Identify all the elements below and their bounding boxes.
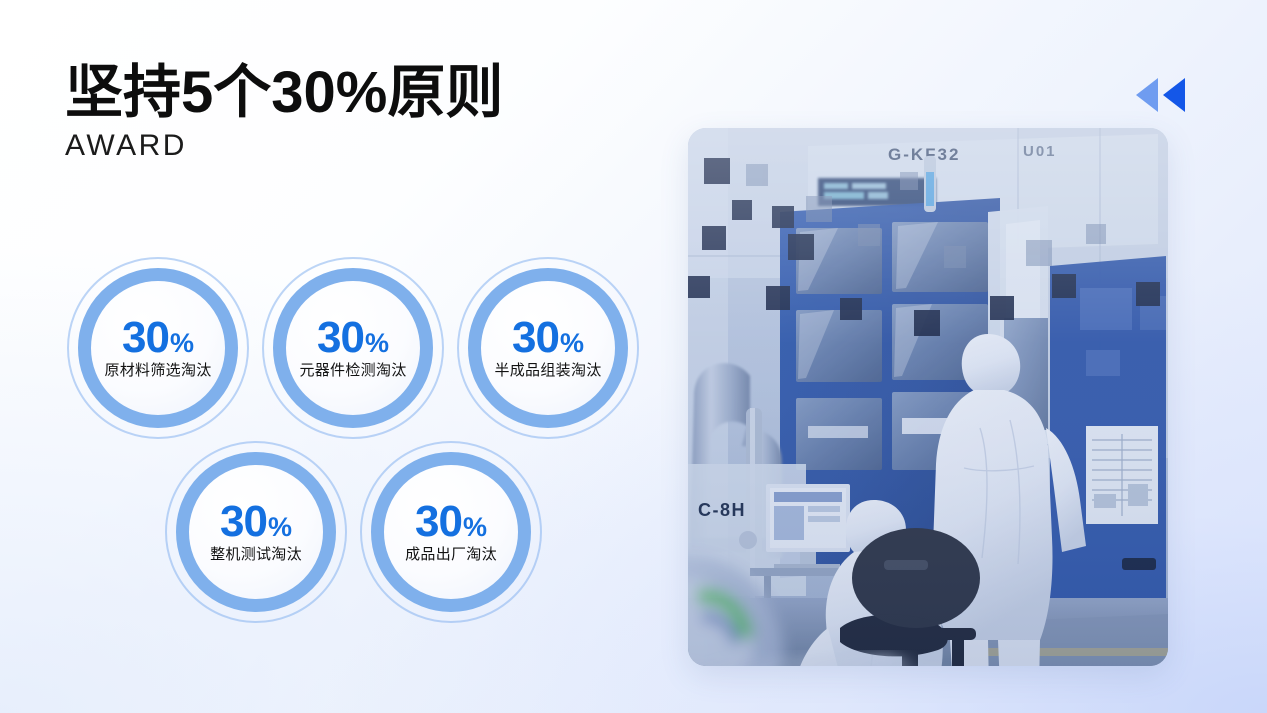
metric-circle-1[interactable]: 30 % 元器件检测淘汰	[273, 268, 433, 428]
slide-canvas: 坚持5个30%原则 AWARD 30 % 原材料筛选淘汰 30 % 元器件检测淘…	[0, 0, 1267, 713]
metric-label-2: 半成品组装淘汰	[494, 363, 601, 380]
metric-number-1: 30	[317, 316, 364, 360]
metric-unit-3: %	[268, 514, 292, 541]
triangle-left-icon-dark[interactable]	[1163, 78, 1185, 112]
metric-label-4: 成品出厂淘汰	[405, 547, 497, 564]
metric-unit-4: %	[463, 514, 487, 541]
metric-unit-0: %	[170, 330, 194, 357]
metric-circle-group: 30 % 原材料筛选淘汰 30 % 元器件检测淘汰 30 % 半成品组装淘汰 3…	[0, 0, 680, 713]
metric-label-0: 原材料筛选淘汰	[104, 363, 211, 380]
cleanroom-photo: G-KF32 U01	[688, 128, 1168, 666]
metric-unit-1: %	[365, 330, 389, 357]
metric-number-0: 30	[122, 316, 169, 360]
nav-arrows[interactable]	[1136, 78, 1185, 112]
metric-number-4: 30	[415, 500, 462, 544]
metric-unit-2: %	[560, 330, 584, 357]
triangle-left-icon-light[interactable]	[1136, 78, 1158, 112]
metric-value-2: 30 %	[512, 316, 584, 360]
metric-circle-4[interactable]: 30 % 成品出厂淘汰	[371, 452, 531, 612]
metric-value-4: 30 %	[415, 500, 487, 544]
metric-value-0: 30 %	[122, 316, 194, 360]
metric-value-1: 30 %	[317, 316, 389, 360]
cleanroom-photo-illustration: G-KF32 U01	[688, 128, 1168, 666]
metric-number-2: 30	[512, 316, 559, 360]
metric-circle-2[interactable]: 30 % 半成品组装淘汰	[468, 268, 628, 428]
metric-number-3: 30	[220, 500, 267, 544]
metric-circle-3[interactable]: 30 % 整机测试淘汰	[176, 452, 336, 612]
metric-label-1: 元器件检测淘汰	[299, 363, 406, 380]
metric-label-3: 整机测试淘汰	[210, 547, 302, 564]
metric-circle-0[interactable]: 30 % 原材料筛选淘汰	[78, 268, 238, 428]
metric-value-3: 30 %	[220, 500, 292, 544]
